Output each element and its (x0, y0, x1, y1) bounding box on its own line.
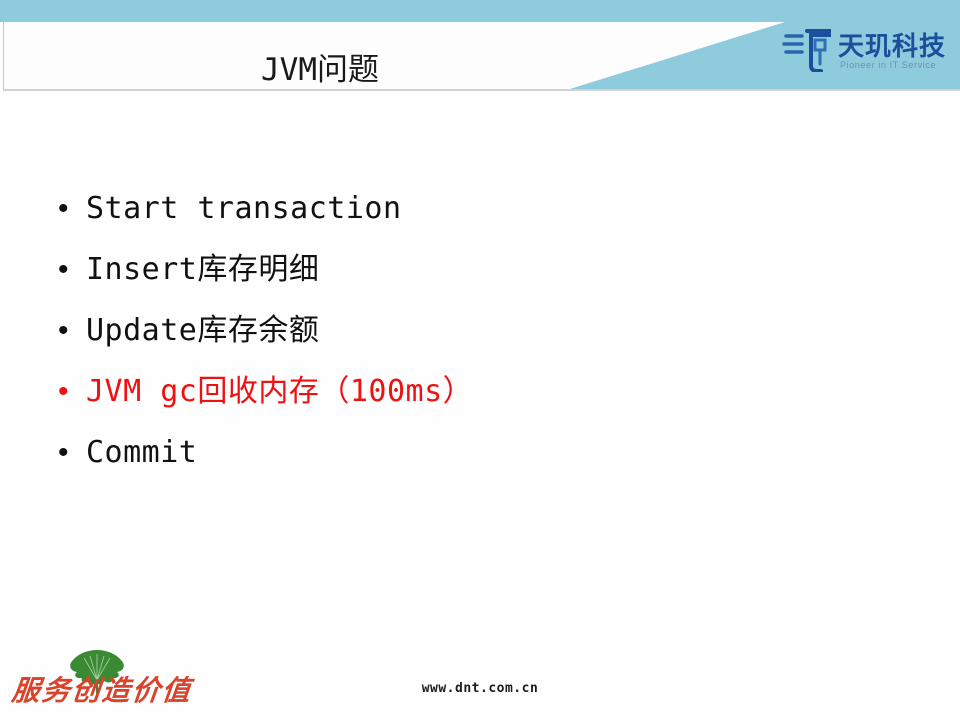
company-logo: 天玑科技 Pioneer in IT Service (782, 24, 957, 82)
page-title: JVM问题 (0, 52, 640, 88)
list-item-label: Insert库存明细 (86, 250, 319, 290)
bullet-point-icon: • (52, 377, 86, 407)
list-item: • Commit (52, 422, 912, 483)
list-item: • Update库存余额 (52, 300, 912, 361)
site-url: www.dnt.com.cn (0, 681, 960, 696)
slogan-logo: 服务创造价值 (8, 644, 188, 716)
slide-footer: 服务创造价值 www.dnt.com.cn (0, 640, 960, 720)
list-item-highlighted: • JVM gc回收内存（100ms） (52, 361, 912, 422)
presentation-slide: JVM问题 天玑科技 Pioneer in IT Service (0, 0, 960, 720)
list-item-label: Update库存余额 (86, 311, 319, 351)
list-item-label: Start transaction (86, 189, 402, 229)
bullet-point-icon: • (52, 194, 86, 224)
bullet-point-icon: • (52, 438, 86, 468)
list-item-label: Commit (86, 433, 197, 473)
bullet-point-icon: • (52, 255, 86, 285)
bullet-point-icon: • (52, 316, 86, 346)
header-divider-rule (3, 89, 960, 91)
bullet-list: • Start transaction • Insert库存明细 • Updat… (52, 178, 912, 483)
list-item: • Insert库存明细 (52, 239, 912, 300)
tianji-logo-mark-icon (782, 26, 834, 77)
company-name-cn: 天玑科技 (838, 26, 946, 63)
slide-header: JVM问题 天玑科技 Pioneer in IT Service (0, 0, 960, 95)
list-item: • Start transaction (52, 178, 912, 239)
list-item-label: JVM gc回收内存（100ms） (86, 372, 473, 412)
company-tagline: Pioneer in IT Service (840, 60, 936, 70)
